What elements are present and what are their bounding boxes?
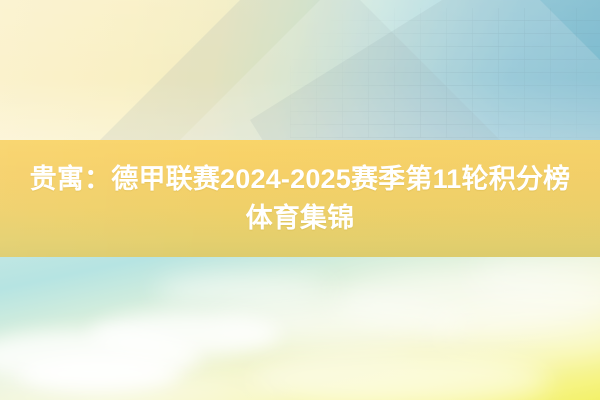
cloud-shape <box>20 356 180 392</box>
cloud-shape <box>250 352 550 400</box>
poster-banner: 贵寓：德甲联赛2024-2025赛季第11轮积分榜 体育集锦 <box>0 0 600 400</box>
poster-title-line-1: 贵寓：德甲联赛2024-2025赛季第11轮积分榜 <box>30 160 571 199</box>
ghost-table-texture <box>290 8 600 138</box>
poster-title-line-2: 体育集锦 <box>246 199 355 238</box>
title-band: 贵寓：德甲联赛2024-2025赛季第11轮积分榜 体育集锦 <box>0 140 600 257</box>
